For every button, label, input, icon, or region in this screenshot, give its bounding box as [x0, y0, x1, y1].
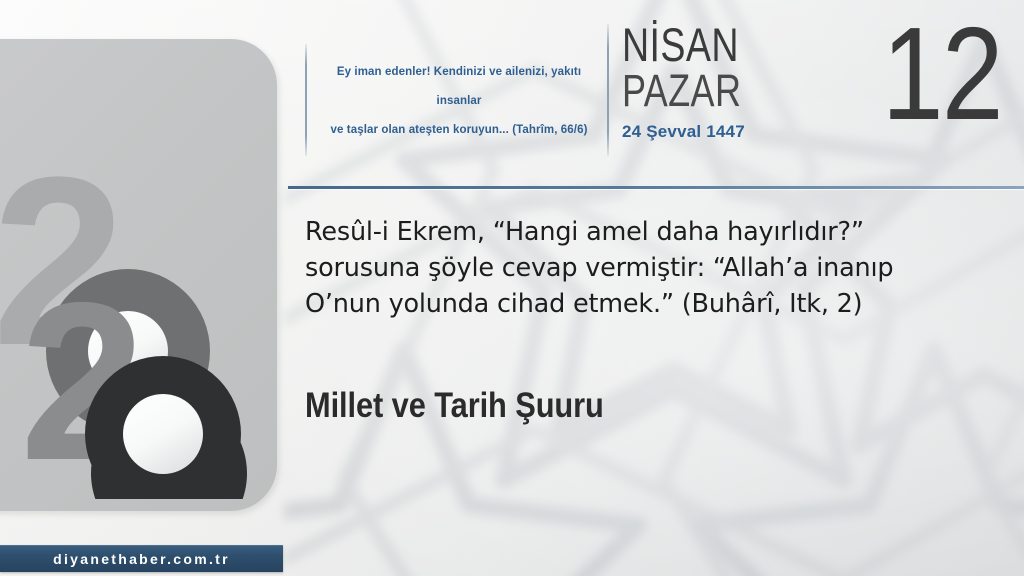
date-block: NİSAN PAZAR 24 Şevval 1447	[622, 22, 872, 142]
header-divider-left	[305, 44, 307, 156]
logo-2026: 2 2	[0, 139, 248, 499]
ayah-line-1: Ey iman edenler! Kendinizi ve ailenizi, …	[318, 58, 600, 116]
day-number: 12	[882, 8, 1002, 140]
headline: Millet ve Tarih Şuuru	[305, 386, 604, 426]
ayah-verse: Ey iman edenler! Kendinizi ve ailenizi, …	[318, 58, 600, 145]
ayah-line-2: ve taşlar olan ateşten koruyun... (Tahrî…	[318, 116, 600, 145]
hijri-date: 24 Şevval 1447	[622, 122, 872, 142]
hadith-quote: Resûl-i Ekrem, “Hangi amel daha hayırlıd…	[305, 214, 945, 322]
calendar-page: 2 2 Ey iman edenler! Kendinizi ve aileni…	[0, 0, 1024, 576]
section-divider	[288, 186, 1024, 189]
header-divider-right	[607, 24, 609, 156]
weekday-label: PAZAR	[622, 69, 822, 112]
left-panel: 2 2	[0, 39, 277, 511]
footer-bar: diyanethaber.com.tr	[0, 545, 283, 572]
website-url[interactable]: diyanethaber.com.tr	[53, 551, 230, 567]
month-label: NİSAN	[622, 22, 822, 67]
